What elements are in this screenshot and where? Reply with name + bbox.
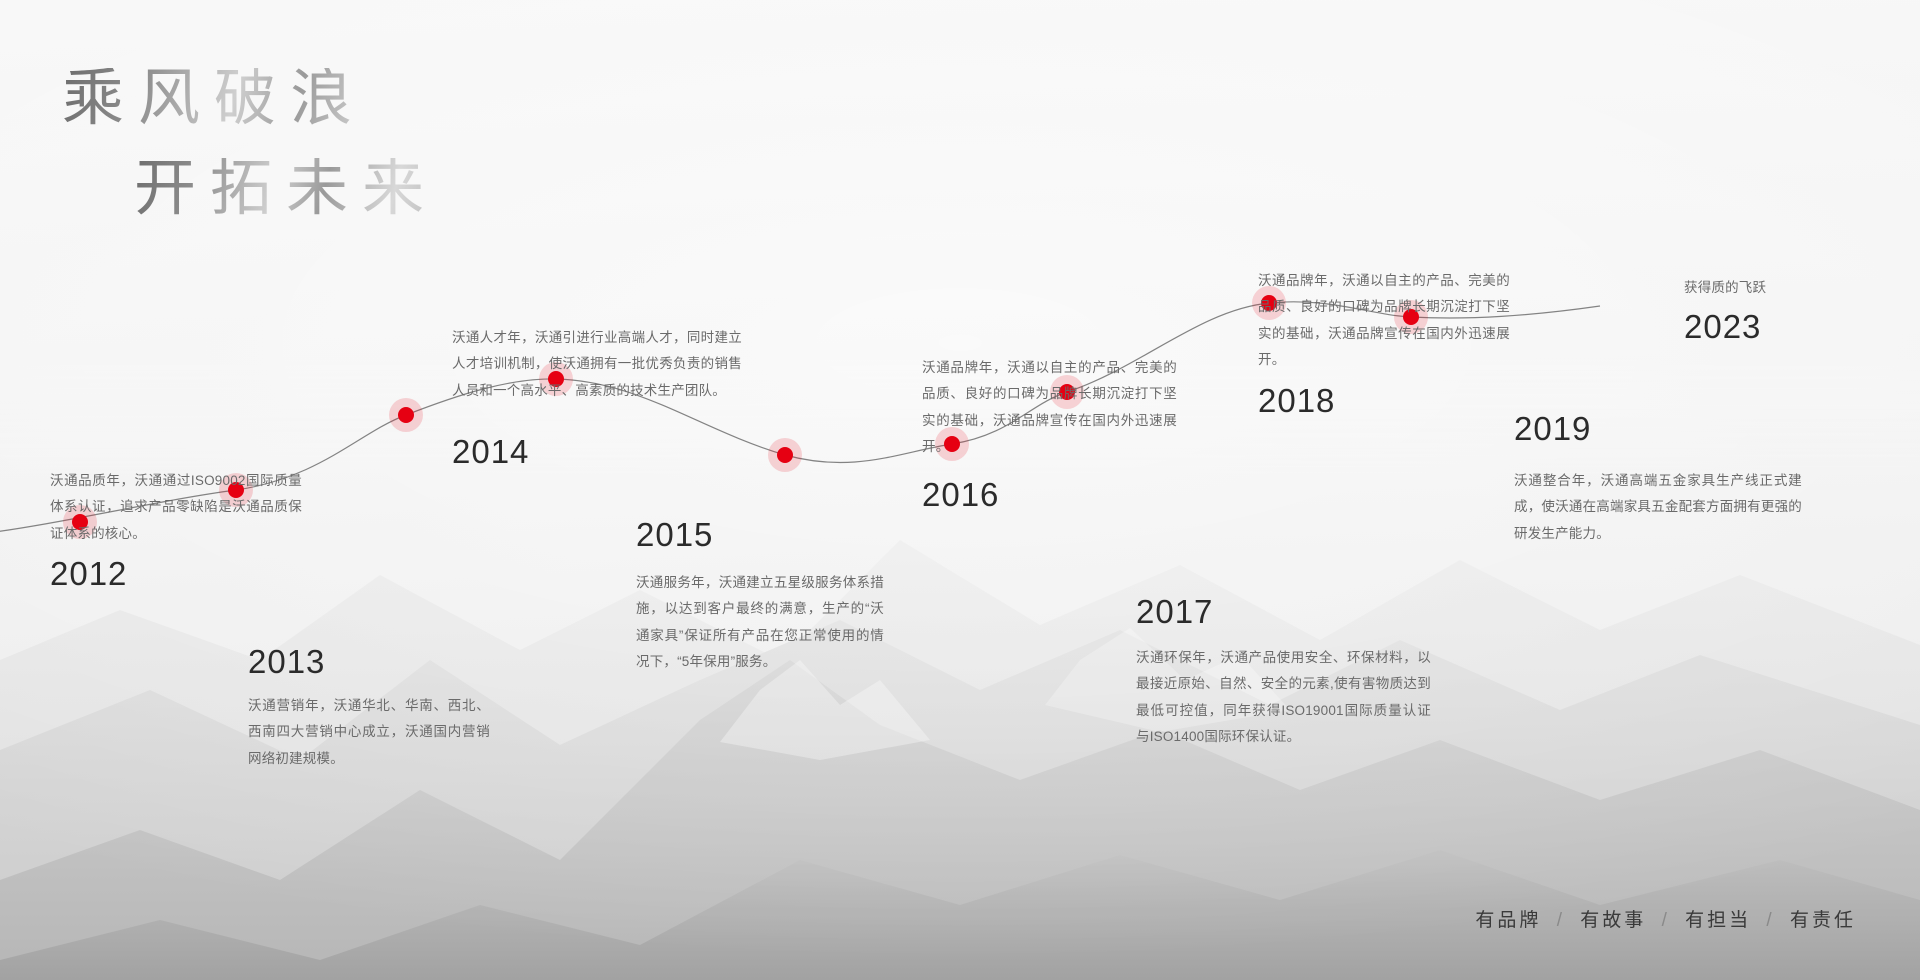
milestone-desc-2014: 沃通人才年，沃通引进行业高端人才，同时建立人才培训机制，使沃通拥有一批优秀负责的… bbox=[452, 325, 742, 404]
milestone-year-2018: 2018 bbox=[1258, 384, 1335, 417]
milestone-year-2012: 2012 bbox=[50, 557, 127, 590]
tagline-item-3: 有担当 bbox=[1685, 910, 1751, 931]
page-title: 乘风破浪 开拓未来 bbox=[62, 68, 438, 220]
milestone-desc-2017: 沃通环保年，沃通产品使用安全、环保材料，以最接近原始、自然、安全的元素,使有害物… bbox=[1136, 645, 1431, 750]
headline-line-2: 开拓未来 bbox=[134, 158, 438, 220]
milestone-desc-2015: 沃通服务年，沃通建立五星级服务体系措施，以达到客户最终的满意，生产的“沃通家具”… bbox=[636, 570, 884, 675]
tagline-separator: / bbox=[1766, 910, 1774, 931]
tagline-separator: / bbox=[1662, 910, 1670, 931]
footer-tagline: 有品牌 / 有故事 / 有担当 / 有责任 bbox=[1475, 905, 1856, 932]
poster-canvas: 乘风破浪 开拓未来 沃通品质年，沃通通过ISO9002国际质量体系认证，追求产品… bbox=[0, 0, 1920, 980]
tagline-item-4: 有责任 bbox=[1790, 910, 1856, 931]
milestone-desc-2018: 沃通品牌年，沃通以自主的产品、完美的品质、良好的口碑为品牌长期沉淀打下坚实的基础… bbox=[1258, 268, 1510, 373]
tagline-separator: / bbox=[1557, 910, 1565, 931]
headline-line-1: 乘风破浪 bbox=[62, 68, 438, 130]
milestone-desc-2012: 沃通品质年，沃通通过ISO9002国际质量体系认证，追求产品零缺陷是沃通品质保证… bbox=[50, 468, 302, 547]
milestone-year-2017: 2017 bbox=[1136, 595, 1213, 628]
milestone-desc-2013: 沃通营销年，沃通华北、华南、西北、西南四大营销中心成立，沃通国内营销网络初建规模… bbox=[248, 693, 490, 772]
milestone-year-2014: 2014 bbox=[452, 435, 529, 468]
timeline-node-2014[interactable] bbox=[389, 398, 423, 432]
milestone-desc-2019: 沃通整合年，沃通高端五金家具生产线正式建成，使沃通在高端家具五金配套方面拥有更强… bbox=[1514, 468, 1802, 547]
tagline-item-1: 有品牌 bbox=[1475, 910, 1541, 931]
node-dot bbox=[777, 447, 793, 463]
milestone-year-2019: 2019 bbox=[1514, 412, 1591, 445]
milestone-desc-2016: 沃通品牌年，沃通以自主的产品、完美的品质、良好的口碑为品牌长期沉淀打下坚实的基础… bbox=[922, 355, 1177, 460]
milestone-year-2015: 2015 bbox=[636, 518, 713, 551]
node-dot bbox=[398, 407, 414, 423]
milestone-year-2013: 2013 bbox=[248, 645, 325, 678]
milestone-desc-2023: 获得质的飞跃 bbox=[1684, 275, 1884, 301]
timeline-node-2016[interactable] bbox=[768, 438, 802, 472]
milestone-year-2016: 2016 bbox=[922, 478, 999, 511]
tagline-item-2: 有故事 bbox=[1580, 910, 1646, 931]
milestone-year-2023: 2023 bbox=[1684, 310, 1761, 343]
